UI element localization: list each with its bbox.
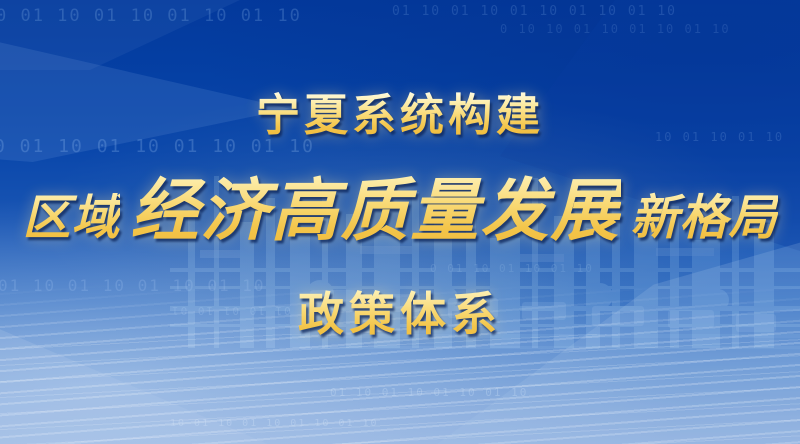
title-line-3: 政策体系 bbox=[298, 278, 502, 344]
title-line-2: 区域 经济高质量发展 新格局 bbox=[22, 155, 777, 254]
title-line-1: 宁夏系统构建 bbox=[256, 92, 544, 140]
banner-poster: 0 01 10 01 10 01 10 01 10 01 10 01 10 01… bbox=[0, 0, 800, 444]
title-line-2-suffix: 新格局 bbox=[631, 178, 778, 248]
title-line-2-emphasis: 经济高质量发展 bbox=[130, 155, 620, 254]
title-line-2-prefix: 区域 bbox=[22, 178, 120, 248]
title-block: 宁夏系统构建 区域 经济高质量发展 新格局 政策体系 bbox=[0, 0, 800, 444]
